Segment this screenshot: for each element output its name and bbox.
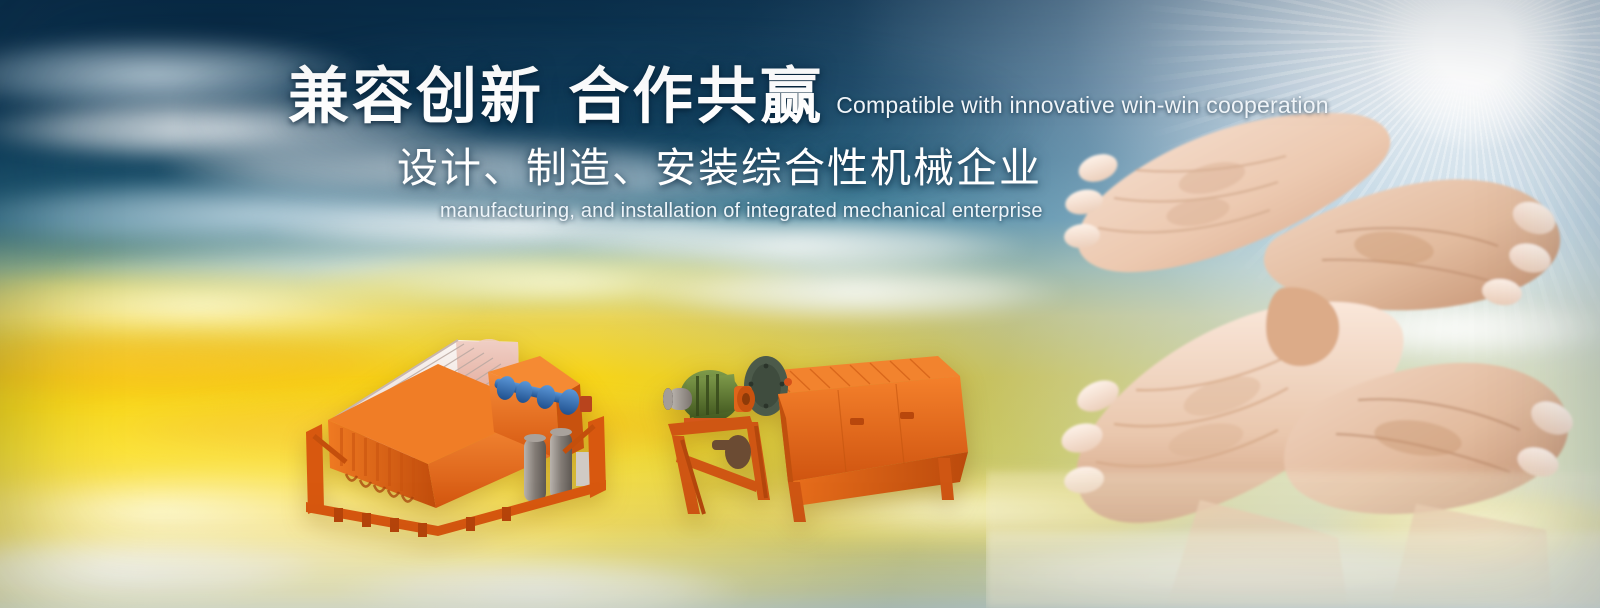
promotional-banner: 兼容创新 合作共赢 Compatible with innovative win… — [0, 0, 1600, 608]
vignette-overlay — [0, 0, 1600, 608]
